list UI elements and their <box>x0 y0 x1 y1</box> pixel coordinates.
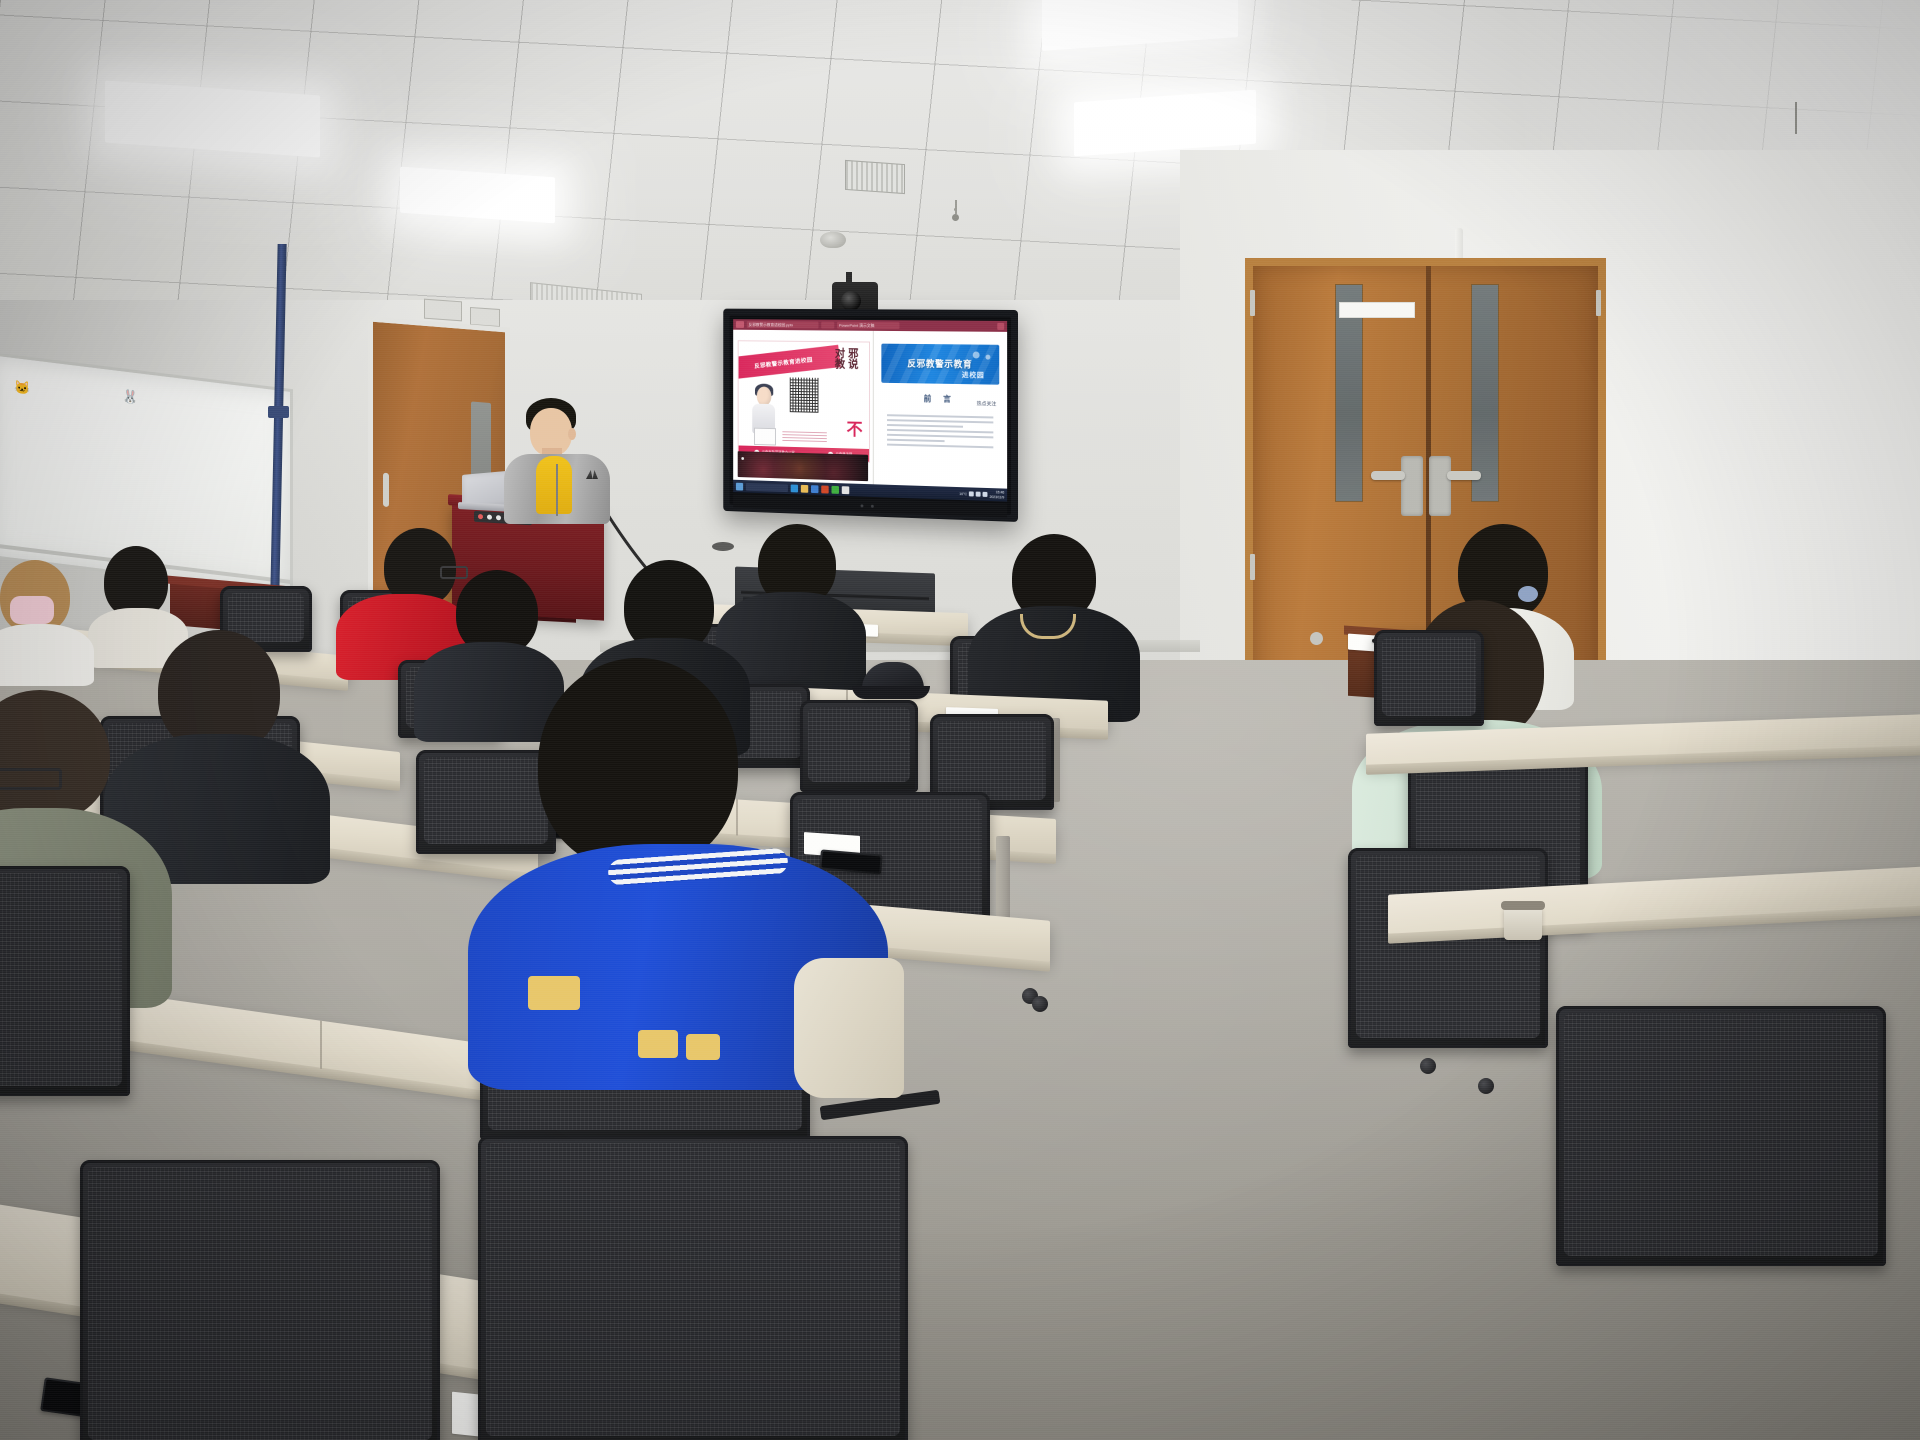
slide-red-poster[interactable]: 反邪教警示教育进校园 对 邪 教 说 不 <box>733 330 873 485</box>
cat-doodle: 🐱 <box>14 380 30 395</box>
presenter-shirt <box>536 456 572 514</box>
titlebar-spacer <box>821 322 834 329</box>
presenter-hoodie-zipper <box>556 464 558 516</box>
presentation-body: 反邪教警示教育进校园 对 邪 教 说 不 <box>733 330 1007 489</box>
volume-icon[interactable] <box>976 492 981 497</box>
chair-right-d[interactable] <box>1556 1006 1886 1266</box>
interactive-flat-panel-display[interactable]: 反邪教警示教育进校园.pptx PowerPoint 演示文稿 反邪教警示教育进… <box>723 309 1018 522</box>
search-input[interactable] <box>746 483 788 492</box>
volume-button-icon[interactable] <box>496 515 501 520</box>
student-head <box>538 658 738 870</box>
door-hinge-right-top <box>1596 290 1601 316</box>
chair-caster-3 <box>1420 1058 1436 1074</box>
display-screen[interactable]: 反邪教警示教育进校园.pptx PowerPoint 演示文稿 反邪教警示教育进… <box>733 319 1007 501</box>
varsity-letter-patch-2 <box>638 1030 678 1058</box>
door-escutcheon-right <box>1429 456 1451 516</box>
poster-ribbon: 反邪教警示教育进校园 <box>737 345 841 380</box>
system-tray[interactable]: 10°C 15:46 2023/11/9 <box>959 489 1004 499</box>
poster-cartoon-figure <box>750 386 778 443</box>
mail-icon[interactable] <box>811 485 818 493</box>
poster-artwork: 反邪教警示教育进校园 对 邪 教 说 不 <box>737 340 870 463</box>
chrome-icon[interactable] <box>842 486 850 494</box>
qr-code-icon[interactable] <box>790 377 819 413</box>
slide-blue-banner[interactable]: 反邪教警示教育 进校园 前 言 热点关注 <box>874 331 1008 489</box>
smoke-detector <box>820 232 846 248</box>
power-led-icon <box>861 504 864 507</box>
door-paper-label <box>1339 302 1415 318</box>
power-button-icon[interactable] <box>478 514 483 519</box>
chair-mesh-back <box>1356 855 1540 1038</box>
poster-headline: 对 邪 教 说 <box>829 349 864 371</box>
hotspot-label: 热点关注 <box>977 400 997 407</box>
sensor-icon <box>871 504 874 507</box>
presenter <box>506 398 610 524</box>
presenter-ear <box>568 428 576 440</box>
chair-mesh-back <box>88 1167 432 1440</box>
banner-title: 反邪教警示教育 <box>907 357 972 371</box>
chair-mesh-back <box>0 873 122 1086</box>
figure-head <box>757 386 772 405</box>
poster-ribbon-text: 反邪教警示教育进校园 <box>754 355 813 370</box>
chair-right-c[interactable] <box>1348 848 1548 1048</box>
chair-mesh-back <box>938 721 1046 800</box>
chair-caster-4 <box>1478 1078 1494 1094</box>
air-vent <box>845 160 905 194</box>
close-icon[interactable] <box>997 323 1004 330</box>
student-head <box>0 690 110 822</box>
sprinkler-drop <box>955 200 957 214</box>
ceiling-hanger-right <box>1795 102 1797 134</box>
titlebar-app-name: PowerPoint 演示文稿 <box>837 322 899 329</box>
edge-icon[interactable] <box>791 484 798 492</box>
clock-date: 2023/11/9 <box>990 495 1005 500</box>
poster-negation-character: 不 <box>847 416 863 441</box>
chair-foreground[interactable] <box>478 1136 908 1440</box>
start-icon[interactable] <box>736 482 743 490</box>
chair-mesh-back <box>1382 637 1476 716</box>
cup-lid <box>1501 901 1545 910</box>
bunny-doodle: 🐰 <box>122 389 138 404</box>
video-indicator-icon <box>741 457 744 460</box>
door-vision-panel-right <box>1471 284 1499 502</box>
student-torso <box>0 624 94 686</box>
battery-icon[interactable] <box>983 492 988 497</box>
pipe-clamp <box>268 406 289 418</box>
student-blue-varsity <box>468 658 888 1078</box>
eyeglasses-2 <box>0 768 62 790</box>
video-content <box>737 451 868 481</box>
door-stop <box>1310 632 1323 645</box>
titlebar-file-tab[interactable]: 反邪教警示教育进校园.pptx <box>747 321 819 328</box>
chair-foreground-left[interactable] <box>80 1160 440 1440</box>
network-icon[interactable] <box>969 491 974 496</box>
student-masked-left <box>0 560 92 680</box>
chair-mesh-back <box>1564 1013 1878 1256</box>
door-hinge-bottom <box>1250 554 1255 580</box>
banner-graphic: 反邪教警示教育 进校园 <box>881 343 999 385</box>
titlebar-app-tab[interactable]: PowerPoint 演示文稿 <box>837 322 899 329</box>
paper-cup <box>1504 906 1542 940</box>
varsity-sleeve-cream <box>794 958 904 1098</box>
door-closer-bracket <box>424 299 462 322</box>
door-handle-right-leaf[interactable] <box>1447 471 1481 480</box>
banner-subtitle: 进校园 <box>962 370 985 380</box>
slide-body-text <box>887 411 994 452</box>
door-handle-left-leaf[interactable] <box>1371 471 1405 480</box>
window-icon <box>736 321 744 328</box>
banner-bubble-2 <box>986 355 991 360</box>
camera-lens-icon <box>841 291 861 311</box>
powerpoint-icon[interactable] <box>821 485 828 493</box>
face-mask <box>10 596 54 624</box>
embedded-video-thumbnail[interactable] <box>737 451 868 481</box>
student-mid-row-black <box>968 534 1140 714</box>
varsity-letter-patch-3 <box>686 1034 720 1060</box>
chair-right-a[interactable] <box>1374 630 1484 726</box>
folder-icon[interactable] <box>801 484 808 492</box>
titlebar-file-name: 反邪教警示教育进校园.pptx <box>747 321 819 328</box>
door-hinge-top <box>1250 290 1255 316</box>
taskbar-clock[interactable]: 15:46 2023/11/9 <box>990 490 1005 499</box>
chair-mesh-back <box>486 1143 900 1436</box>
chair-caster-2 <box>1032 996 1048 1012</box>
classroom-photo-scene: 🐱 🐰 反邪教警示教育进校园.pptx PowerPoint 演示文 <box>0 0 1920 1440</box>
weather-temp: 10°C <box>959 492 967 496</box>
wechat-icon[interactable] <box>831 485 838 493</box>
sprinkler-head <box>952 214 959 221</box>
door-escutcheon-left <box>1401 456 1423 516</box>
desk-seam <box>320 1021 322 1069</box>
banner-bubble-1 <box>973 351 980 358</box>
varsity-letter-patch <box>528 976 580 1010</box>
figure-held-sign <box>754 428 776 445</box>
chair-front-left[interactable] <box>0 866 130 1096</box>
source-button-icon[interactable] <box>487 514 492 519</box>
poster-body-text <box>782 430 827 445</box>
door-handle-left[interactable] <box>383 473 389 507</box>
